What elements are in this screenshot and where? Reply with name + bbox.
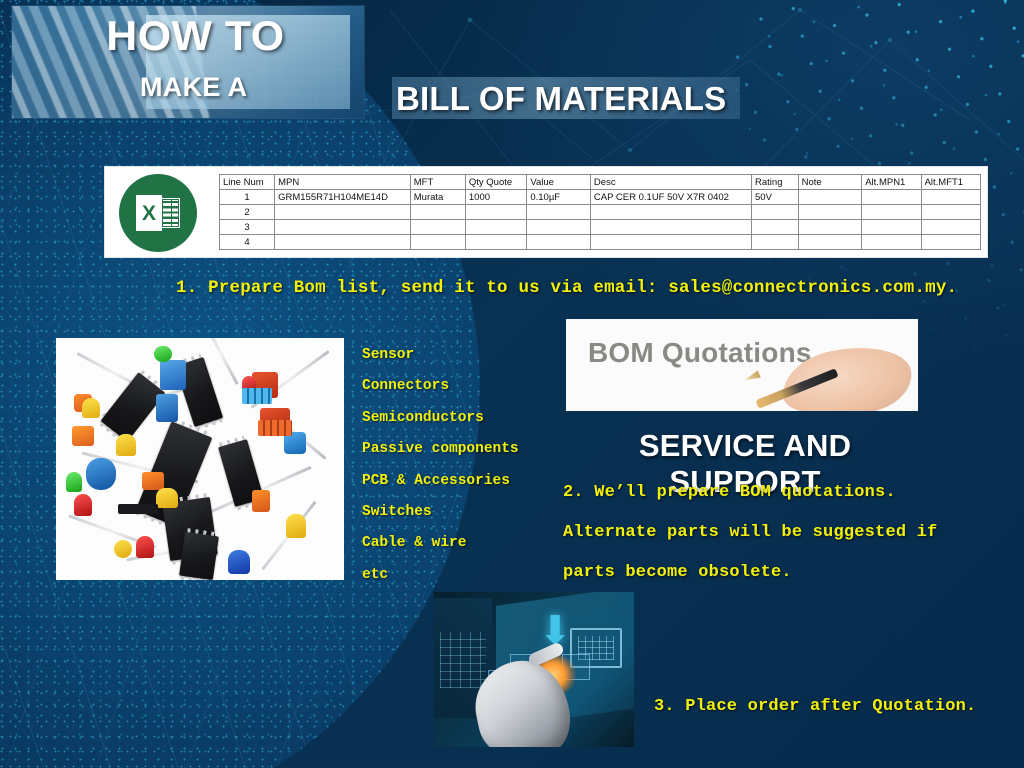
bom-quotations-title: BOM Quotations <box>588 337 812 369</box>
cell-desc <box>590 235 751 250</box>
cell-mft <box>410 205 465 220</box>
list-item: Cable & wire <box>362 528 558 559</box>
col-header-mft: MFT <box>410 175 465 190</box>
col-header-desc: Desc <box>590 175 751 190</box>
col-header-mpn: MPN <box>275 175 411 190</box>
header-line2: MAKE A <box>140 72 247 103</box>
cell-mft <box>410 235 465 250</box>
cell-desc: CAP CER 0.1UF 50V X7R 0402 <box>590 190 751 205</box>
col-header-rating: Rating <box>752 175 799 190</box>
pen-tip-icon <box>743 370 761 383</box>
table-header-row: Line Num MPN MFT Qty Quote Value Desc Ra… <box>220 175 981 190</box>
cell-rating: 50V <box>752 190 799 205</box>
cell-mpn <box>275 220 411 235</box>
cell-mft: Murata <box>410 190 465 205</box>
list-item: Passive components <box>362 434 558 465</box>
list-item: Semiconductors <box>362 403 558 434</box>
excel-grid-icon <box>161 198 180 228</box>
header-text-wrap: HOW TO MAKE A <box>12 6 364 118</box>
table-row[interactable]: 1 GRM155R71H104ME14D Murata 1000 0.10µF … <box>220 190 981 205</box>
col-header-alt-mft1: Alt.MFT1 <box>921 175 980 190</box>
cell-line-num: 2 <box>220 205 275 220</box>
step-2-line1: 2. We’ll prepare BOM quotations. <box>563 483 896 502</box>
cell-note <box>798 190 862 205</box>
cell-alt-mft1 <box>921 235 980 250</box>
page-title: BILL OF MATERIALS <box>396 80 726 118</box>
cell-note <box>798 205 862 220</box>
header-line1: HOW TO <box>106 12 284 60</box>
bom-quotations-banner: BOM Quotations <box>566 319 918 411</box>
cell-qty-quote: 1000 <box>465 190 526 205</box>
step-3-text: 3. Place order after Quotation. <box>654 697 976 716</box>
cell-line-num: 4 <box>220 235 275 250</box>
cell-desc <box>590 205 751 220</box>
bom-table: Line Num MPN MFT Qty Quote Value Desc Ra… <box>219 174 981 250</box>
step-1-text: 1. Prepare Bom list, send it to us via e… <box>176 278 957 298</box>
excel-letter: X <box>136 195 162 231</box>
cell-alt-mft1 <box>921 190 980 205</box>
list-item: Sensor <box>362 340 558 371</box>
cell-rating <box>752 220 799 235</box>
cell-qty-quote <box>465 235 526 250</box>
cell-mpn: GRM155R71H104ME14D <box>275 190 411 205</box>
excel-icon: X <box>119 174 197 252</box>
cell-qty-quote <box>465 205 526 220</box>
table-row[interactable]: 2 <box>220 205 981 220</box>
cell-mpn <box>275 235 411 250</box>
cell-line-num: 1 <box>220 190 275 205</box>
component-category-list: Sensor Connectors Semiconductors Passive… <box>362 340 558 591</box>
bom-spreadsheet-block: X Line Num MPN MFT Qty Quote Value Desc … <box>104 166 988 258</box>
list-item: PCB & Accessories <box>362 466 558 497</box>
cell-alt-mpn1 <box>862 190 921 205</box>
cell-value: 0.10µF <box>527 190 591 205</box>
cell-alt-mft1 <box>921 205 980 220</box>
list-item: Connectors <box>362 371 558 402</box>
cell-rating <box>752 205 799 220</box>
cell-mpn <box>275 205 411 220</box>
cell-line-num: 3 <box>220 220 275 235</box>
table-row[interactable]: 3 <box>220 220 981 235</box>
cell-qty-quote <box>465 220 526 235</box>
cell-rating <box>752 235 799 250</box>
cell-desc <box>590 220 751 235</box>
cell-note <box>798 220 862 235</box>
cell-value <box>527 235 591 250</box>
list-item: etc <box>362 560 558 591</box>
list-item: Switches <box>362 497 558 528</box>
header-banner: HOW TO MAKE A BILL OF MATERIALS <box>0 0 760 128</box>
excel-glyph: X <box>136 195 180 231</box>
slide-canvas: HOW TO MAKE A BILL OF MATERIALS X Line N… <box>0 0 1024 768</box>
cell-value <box>527 220 591 235</box>
electronic-components-photo <box>56 338 344 580</box>
excel-icon-cell: X <box>105 167 211 259</box>
cell-note <box>798 235 862 250</box>
cell-alt-mpn1 <box>862 205 921 220</box>
cell-mft <box>410 220 465 235</box>
step-2-line3: parts become obsolete. <box>563 563 792 582</box>
col-header-value: Value <box>527 175 591 190</box>
order-technology-photo: ⬇ <box>434 592 634 747</box>
table-row[interactable]: 4 <box>220 235 981 250</box>
col-header-qty-quote: Qty Quote <box>465 175 526 190</box>
cell-alt-mft1 <box>921 220 980 235</box>
col-header-note: Note <box>798 175 862 190</box>
step-2-line2: Alternate parts will be suggested if <box>563 523 937 542</box>
cell-value <box>527 205 591 220</box>
cell-alt-mpn1 <box>862 235 921 250</box>
cell-alt-mpn1 <box>862 220 921 235</box>
col-header-alt-mpn1: Alt.MPN1 <box>862 175 921 190</box>
col-header-line-num: Line Num <box>220 175 275 190</box>
